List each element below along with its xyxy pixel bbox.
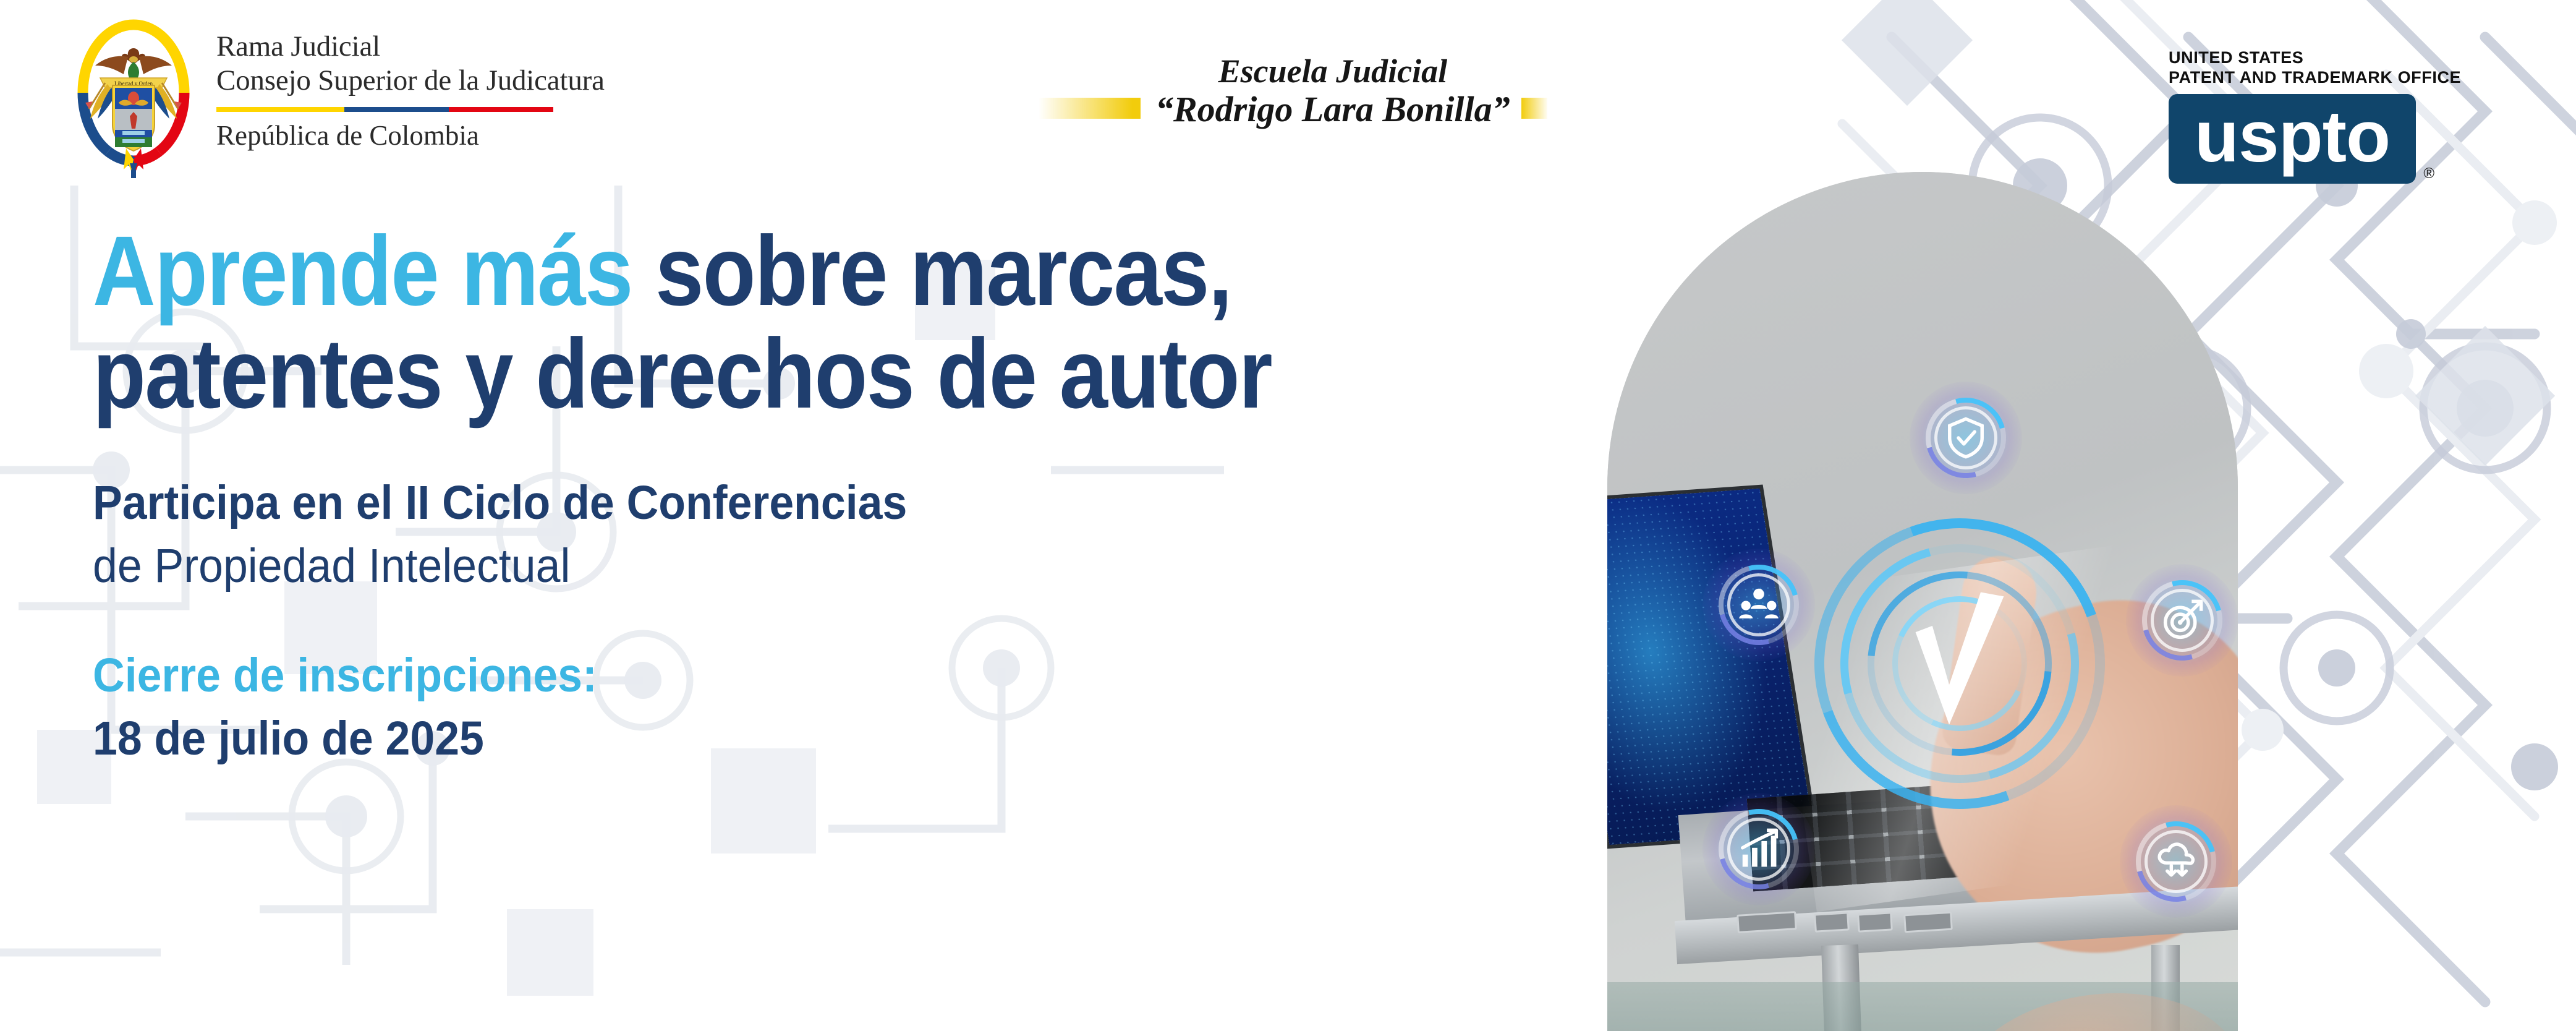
cloud-download-icon bbox=[2154, 840, 2198, 883]
hud-badge-group bbox=[1712, 558, 1805, 651]
checkmark-icon bbox=[1907, 586, 2012, 747]
registered-trademark-icon: ® bbox=[2423, 165, 2434, 182]
uspto-logo: UNITED STATES PATENT AND TRADEMARK OFFIC… bbox=[2169, 48, 2461, 184]
rama-judicial-logo: Libertad y Orden bbox=[62, 14, 605, 178]
uspto-wordmark: uspto bbox=[2195, 100, 2390, 177]
laptop-port-usb bbox=[1903, 912, 1953, 933]
laptop-port-sdcard bbox=[1736, 911, 1797, 933]
laptop-port-thunderbolt-2 bbox=[1857, 912, 1893, 932]
rama-judicial-line3: República de Colombia bbox=[216, 119, 605, 152]
group-users-icon bbox=[1737, 583, 1780, 627]
laptop-port-thunderbolt-1 bbox=[1814, 912, 1850, 932]
headline-accent: Aprende más bbox=[93, 215, 632, 326]
rama-judicial-line1: Rama Judicial bbox=[216, 30, 605, 64]
logo-bar: Libertad y Orden bbox=[0, 0, 2576, 186]
uspto-caption-line2: PATENT AND TRADEMARK OFFICE bbox=[2169, 68, 2461, 88]
gold-accent-bar-right bbox=[1521, 98, 1547, 119]
promo-banner: Libertad y Orden bbox=[0, 0, 2576, 1031]
hud-core-rings bbox=[1814, 518, 2105, 809]
subheadline-regular: de Propiedad Intelectual bbox=[93, 534, 1502, 597]
escuela-judicial-line2: “Rodrigo Lara Bonilla” bbox=[1155, 90, 1510, 130]
rama-judicial-line2: Consejo Superior de la Judicatura bbox=[216, 64, 605, 98]
page-title: Aprende más sobre marcas, patentes y der… bbox=[93, 220, 1426, 426]
hud-badge-chart bbox=[1712, 803, 1805, 896]
shield-check-icon bbox=[1944, 416, 1987, 460]
subheadline-bold: Participa en el II Ciclo de Conferencias bbox=[93, 471, 1502, 534]
copy-block: Aprende más sobre marcas, patentes y der… bbox=[93, 220, 1607, 770]
target-icon bbox=[2161, 599, 2204, 642]
colombia-tricolor-rule bbox=[216, 107, 553, 112]
gold-accent-bar-left bbox=[1039, 98, 1141, 119]
uspto-wordmark-box: uspto bbox=[2169, 94, 2416, 184]
escuela-judicial-logo: Escuela Judicial “Rodrigo Lara Bonilla” bbox=[1039, 53, 1547, 130]
subheadline: Participa en el II Ciclo de Conferencias… bbox=[93, 471, 1502, 598]
tricolor-red bbox=[449, 107, 553, 112]
escuela-judicial-line1: Escuela Judicial bbox=[1155, 53, 1510, 90]
tricolor-blue bbox=[344, 107, 449, 112]
bar-chart-icon bbox=[1737, 828, 1780, 871]
headline-line2: patentes y derechos de autor bbox=[93, 318, 1272, 429]
uspto-caption-line1: UNITED STATES bbox=[2169, 48, 2461, 68]
hero-photo-arch bbox=[1607, 172, 2238, 1031]
deadline-label: Cierre de inscripciones: bbox=[93, 644, 1502, 707]
deadline-date: 18 de julio de 2025 bbox=[93, 707, 1502, 770]
colombia-coat-of-arms: Libertad y Orden bbox=[62, 16, 205, 178]
hud-badge-shield bbox=[1919, 391, 2012, 484]
headline-rest: sobre marcas, bbox=[632, 215, 1231, 326]
tricolor-yellow bbox=[216, 107, 344, 112]
registration-deadline: Cierre de inscripciones: 18 de julio de … bbox=[93, 644, 1502, 771]
hud-badge-target bbox=[2136, 574, 2229, 667]
hud-badge-cloud bbox=[2130, 815, 2222, 908]
